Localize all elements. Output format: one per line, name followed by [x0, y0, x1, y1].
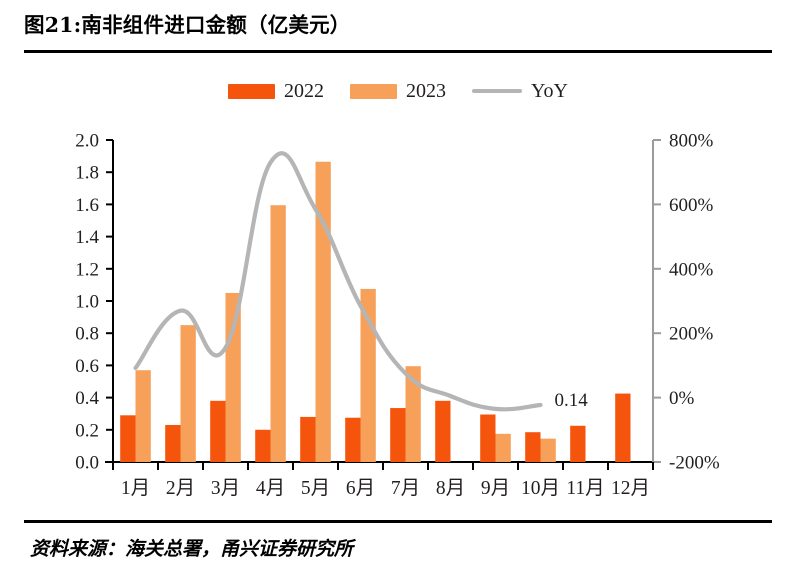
legend-label-yoy: YoY [531, 81, 568, 101]
left-axis-tick-label: 1.0 [75, 292, 99, 313]
bar-2022 [435, 401, 450, 462]
bar-2023 [136, 370, 151, 462]
x-axis-category-label: 5月 [301, 478, 330, 499]
legend-swatch-2023-icon [350, 84, 397, 99]
left-axis-tick-label: 1.2 [75, 259, 99, 280]
legend-line-yoy-icon [472, 89, 522, 93]
x-axis-category-label: 11月 [566, 478, 604, 499]
chart-page: 图21:南非组件进口金额（亿美元） 2022 2023 YoY 0.00.20.… [0, 0, 796, 577]
source-note: 资料来源：海关总署，甬兴证券研究所 [30, 534, 353, 561]
yoy-line [136, 153, 541, 409]
legend-label-2023: 2023 [406, 81, 446, 101]
plot-area: 0.00.20.40.60.81.01.21.41.61.82.0-200%0%… [0, 118, 796, 518]
bar-2022 [480, 415, 495, 462]
page-title: 图21:南非组件进口金额（亿美元） [24, 10, 772, 40]
x-axis-category-label: 4月 [256, 478, 285, 499]
left-axis-tick-label: 0.2 [75, 420, 99, 441]
bar-2022 [120, 415, 135, 462]
left-axis-tick-label: 0.8 [75, 324, 99, 345]
x-axis-category-label: 9月 [481, 478, 510, 499]
legend-label-2022: 2022 [284, 81, 324, 101]
x-axis-category-label: 1月 [121, 478, 150, 499]
title-divider [24, 50, 772, 53]
x-axis-category-label: 8月 [436, 478, 465, 499]
bar-2022 [255, 430, 270, 462]
bar-2023 [181, 325, 196, 462]
right-axis-tick-label: -200% [669, 453, 720, 474]
bar-2022 [165, 425, 180, 462]
footer-block: 资料来源：海关总署，甬兴证券研究所 [24, 520, 772, 570]
data-label-annotation: 0.14 [555, 390, 589, 411]
bar-2022 [570, 426, 585, 462]
title-block: 图21:南非组件进口金额（亿美元） [24, 10, 772, 54]
x-axis-category-label: 7月 [391, 478, 420, 499]
chart-svg: 0.00.20.40.60.81.01.21.41.61.82.0-200%0%… [0, 118, 796, 518]
right-axis-tick-label: 400% [669, 259, 714, 280]
left-axis-tick-label: 0.0 [75, 453, 99, 474]
footer-divider [24, 520, 772, 523]
legend-item-2022: 2022 [228, 81, 324, 101]
bar-2023 [541, 439, 556, 462]
bar-2023 [226, 293, 241, 462]
left-axis-tick-label: 1.6 [75, 195, 99, 216]
x-axis-category-label: 6月 [346, 478, 375, 499]
legend-swatch-2022-icon [228, 84, 275, 99]
bar-2022 [390, 408, 405, 462]
right-axis-tick-label: 600% [669, 195, 714, 216]
legend-item-yoy: YoY [472, 81, 568, 101]
legend-item-2023: 2023 [350, 81, 446, 101]
right-axis-tick-label: 0% [669, 388, 695, 409]
bar-2022 [210, 401, 225, 462]
x-axis-category-label: 2月 [166, 478, 195, 499]
bar-2023 [496, 434, 511, 462]
left-axis-tick-label: 2.0 [75, 131, 99, 152]
left-axis-tick-label: 1.8 [75, 163, 99, 184]
chart-legend: 2022 2023 YoY [0, 76, 796, 106]
left-axis-tick-label: 1.4 [75, 227, 99, 248]
left-axis-tick-label: 0.4 [75, 388, 99, 409]
right-axis-tick-label: 200% [669, 324, 714, 345]
left-axis-tick-label: 0.6 [75, 356, 99, 377]
x-axis-category-label: 10月 [521, 478, 560, 499]
bar-2022 [345, 418, 360, 462]
bar-2022 [615, 394, 630, 462]
bar-2022 [300, 417, 315, 462]
bar-2023 [271, 205, 286, 462]
right-axis-tick-label: 800% [669, 131, 714, 152]
x-axis-category-label: 3月 [211, 478, 240, 499]
bar-2022 [525, 432, 540, 462]
bar-2023 [361, 289, 376, 462]
x-axis-category-label: 12月 [611, 478, 650, 499]
bar-2023 [316, 162, 331, 462]
